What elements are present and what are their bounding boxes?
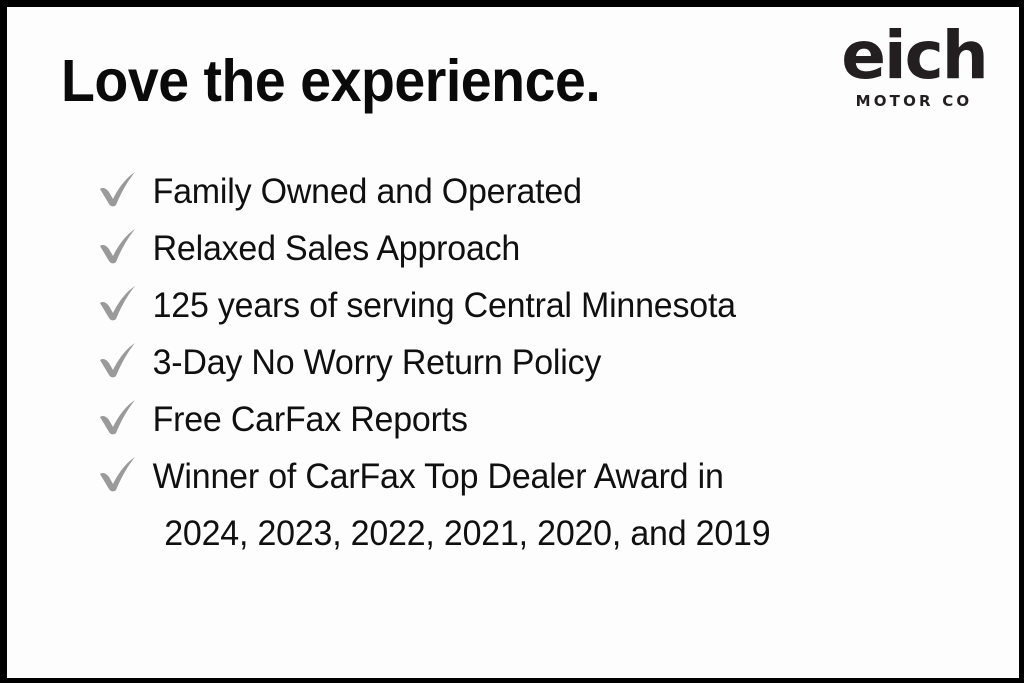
ad-card: eich MOTOR CO Love the experience. Famil… — [0, 0, 1024, 683]
list-item-label: Relaxed Sales Approach — [139, 220, 973, 277]
list-item: Relaxed Sales Approach — [97, 220, 999, 277]
check-icon — [97, 279, 139, 324]
list-item-label: Winner of CarFax Top Dealer Award in 202… — [139, 448, 973, 562]
check-icon — [97, 393, 139, 438]
check-icon — [97, 450, 139, 495]
list-item-label-line2: 2024, 2023, 2022, 2021, 2020, and 2019 — [153, 505, 974, 562]
ad-content-area: eich MOTOR CO Love the experience. Famil… — [7, 7, 1019, 678]
list-item: 3-Day No Worry Return Policy — [97, 334, 999, 391]
list-item-label: Free CarFax Reports — [139, 391, 973, 448]
page-title: Love the experience. — [61, 51, 600, 113]
list-item: Winner of CarFax Top Dealer Award in 202… — [97, 448, 999, 562]
check-icon — [97, 222, 139, 267]
logo-subtitle: MOTOR CO — [831, 92, 997, 110]
list-item-label-line1: Winner of CarFax Top Dealer Award in — [153, 457, 724, 496]
eich-motor-co-logo: eich MOTOR CO — [831, 28, 997, 110]
list-item: Family Owned and Operated — [97, 163, 999, 220]
list-item-label: Family Owned and Operated — [139, 163, 973, 220]
check-icon — [97, 165, 139, 210]
logo-wordmark: eich — [831, 28, 997, 85]
list-item: Free CarFax Reports — [97, 391, 999, 448]
feature-list: Family Owned and Operated Relaxed Sales … — [97, 163, 999, 562]
check-icon — [97, 336, 139, 381]
list-item: 125 years of serving Central Minnesota — [97, 277, 999, 334]
list-item-label: 125 years of serving Central Minnesota — [139, 277, 973, 334]
list-item-label: 3-Day No Worry Return Policy — [139, 334, 973, 391]
